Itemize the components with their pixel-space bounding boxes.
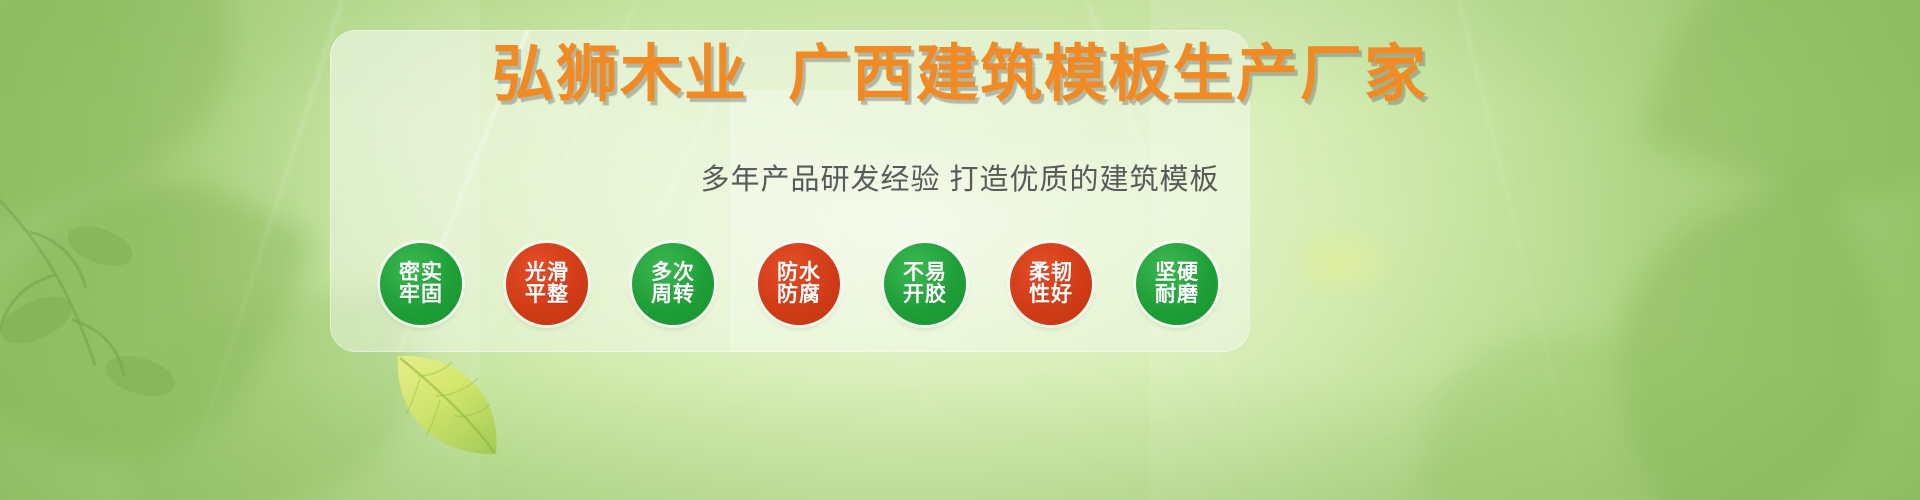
- feature-badge-line2: 平整: [525, 284, 569, 306]
- feature-badge-line2: 防腐: [777, 284, 821, 306]
- feature-badge[interactable]: 多次 周转: [632, 243, 714, 325]
- feature-badge-line1: 光滑: [525, 262, 569, 284]
- feature-badge-line1: 不易: [903, 262, 947, 284]
- feature-badge-line1: 坚硬: [1155, 262, 1199, 284]
- feature-badge-line2: 牢固: [399, 284, 443, 306]
- feature-badge-line1: 防水: [777, 262, 821, 284]
- headline: 弘狮木业广西建筑模板生产厂家: [0, 44, 1920, 106]
- feature-badge-line2: 性好: [1029, 284, 1073, 306]
- feature-badge-row: 密实 牢固 光滑 平整 多次 周转 防水 防腐 不易 开胶 柔韧 性好 坚硬 耐…: [380, 236, 1218, 332]
- feature-badge[interactable]: 密实 牢固: [380, 243, 462, 325]
- feature-badge[interactable]: 柔韧 性好: [1010, 243, 1092, 325]
- feature-badge-line2: 周转: [651, 284, 695, 306]
- headline-main: 广西建筑模板生产厂家: [788, 40, 1428, 109]
- feature-badge-line1: 密实: [399, 262, 443, 284]
- feature-badge[interactable]: 坚硬 耐磨: [1136, 243, 1218, 325]
- feature-badge[interactable]: 光滑 平整: [506, 243, 588, 325]
- feature-badge-line2: 耐磨: [1155, 284, 1199, 306]
- headline-brand: 弘狮木业: [492, 40, 748, 109]
- promo-banner: 弘狮木业广西建筑模板生产厂家 多年产品研发经验 打造优质的建筑模板 密实 牢固 …: [0, 0, 1920, 500]
- subtitle: 多年产品研发经验 打造优质的建筑模板: [0, 166, 1920, 195]
- feature-badge[interactable]: 防水 防腐: [758, 243, 840, 325]
- feature-badge[interactable]: 不易 开胶: [884, 243, 966, 325]
- feature-badge-line1: 柔韧: [1029, 262, 1073, 284]
- feature-badge-line2: 开胶: [903, 284, 947, 306]
- feature-badge-line1: 多次: [651, 262, 695, 284]
